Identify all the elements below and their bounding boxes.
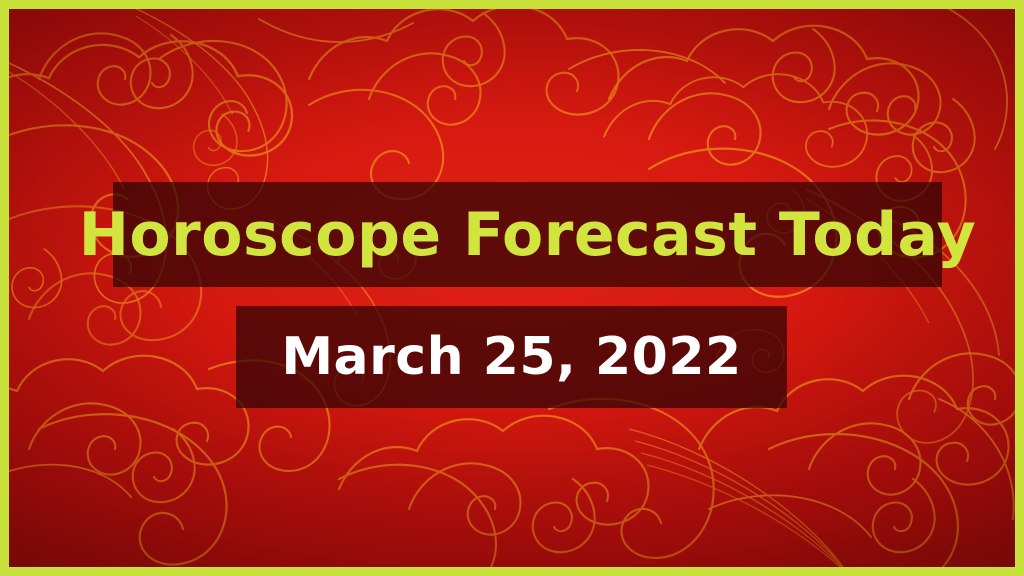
date-banner: March 25, 2022	[236, 306, 787, 408]
page-title: Horoscope Forecast Today	[79, 205, 977, 265]
poster-canvas: Horoscope Forecast Today March 25, 2022	[9, 9, 1015, 567]
horoscope-title-card: Horoscope Forecast Today March 25, 2022	[0, 0, 1024, 576]
title-banner: Horoscope Forecast Today	[113, 182, 942, 287]
date-label: March 25, 2022	[281, 331, 741, 383]
chinese-cloud-pattern	[9, 9, 1015, 567]
